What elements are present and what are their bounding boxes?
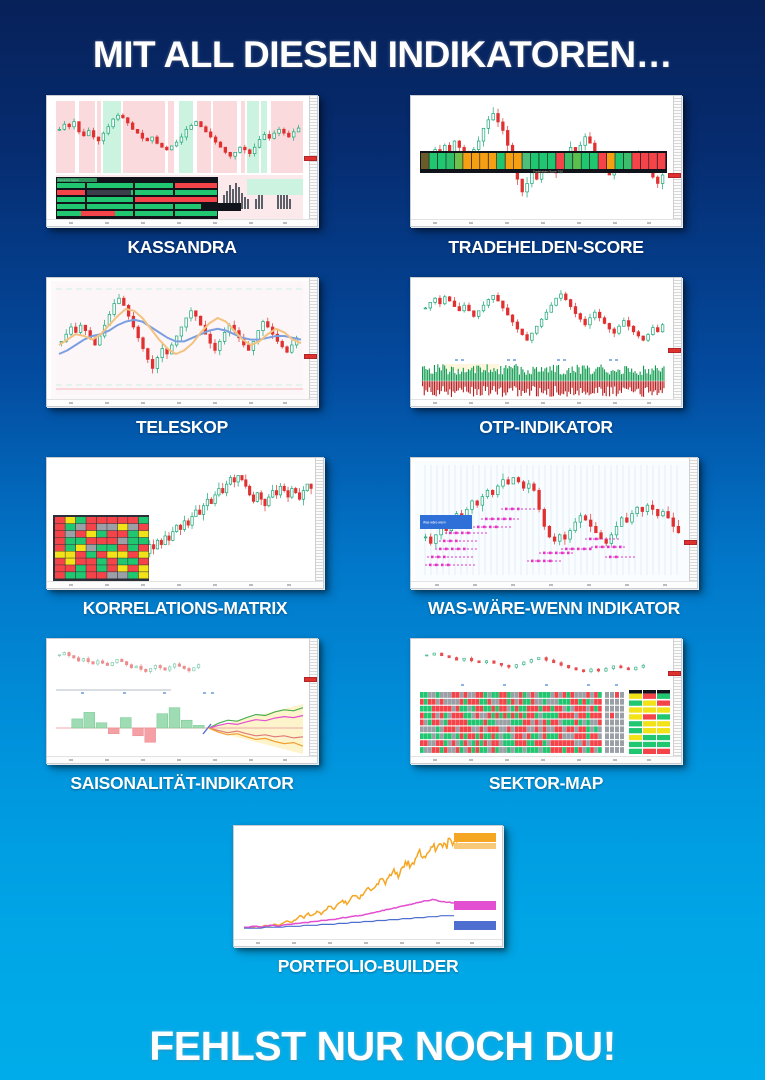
last-price-tag <box>304 677 317 682</box>
price-axis <box>689 458 697 588</box>
price-axis <box>309 96 317 226</box>
sektor-map-thumbnail[interactable] <box>410 638 682 764</box>
was-waere-wenn-chart: Was-wäre-wenn <box>415 461 693 584</box>
last-price-tag <box>668 671 681 676</box>
price-axis <box>673 639 681 763</box>
otp-indikator-thumbnail[interactable] <box>410 277 682 407</box>
price-axis <box>673 278 681 406</box>
indicator-card-was-waere-wenn[interactable]: Was-wäre-wenn WAS-WÄRE-WENN INDIKATOR <box>410 457 698 619</box>
caption-otp-indikator: OTP-INDIKATOR <box>410 417 682 438</box>
indicator-card-otp-indikator[interactable]: OTP-INDIKATOR <box>410 277 682 438</box>
time-axis <box>47 581 323 588</box>
indicator-card-teleskop[interactable]: TELESKOP <box>46 277 318 438</box>
time-axis <box>234 939 502 946</box>
price-axis <box>309 278 317 406</box>
indicator-card-korrelations-matrix[interactable]: KORRELATIONS-MATRIX <box>46 457 324 619</box>
sektor-map-chart <box>415 642 677 759</box>
time-axis <box>411 581 697 588</box>
caption-tradehelden-score: TRADEHELDEN-SCORE <box>410 237 682 258</box>
price-axis <box>315 458 323 588</box>
svg-text:Was-wäre-wenn: Was-wäre-wenn <box>423 521 446 525</box>
kassandra-thumbnail[interactable]: Kassandra Signal <box>46 95 318 227</box>
caption-sektor-map: SEKTOR-MAP <box>410 773 682 794</box>
tradehelden-score-thumbnail[interactable]: Tradehelden Score 7/10 <box>410 95 682 227</box>
time-axis <box>47 219 317 226</box>
was-waere-wenn-thumbnail[interactable]: Was-wäre-wenn <box>410 457 698 589</box>
indicator-card-portfolio-builder[interactable]: PORTFOLIO-BUILDER <box>233 825 503 977</box>
time-axis <box>47 399 317 406</box>
page-title-bottom: FEHLST NUR NOCH DU! <box>0 1022 765 1070</box>
korrelations-matrix-chart <box>51 461 319 584</box>
last-price-tag <box>304 156 317 161</box>
last-price-tag <box>668 348 681 353</box>
indicator-panel-grid: Kassandra Signal KASSANDRA Tradehe <box>0 0 765 1080</box>
time-axis <box>411 399 681 406</box>
caption-was-waere-wenn: WAS-WÄRE-WENN INDIKATOR <box>410 598 698 619</box>
price-axis <box>309 639 317 763</box>
teleskop-chart <box>51 281 313 402</box>
indicator-card-kassandra[interactable]: Kassandra Signal KASSANDRA <box>46 95 318 258</box>
last-price-tag <box>304 354 317 359</box>
indicator-card-sektor-map[interactable]: SEKTOR-MAP <box>410 638 682 794</box>
kassandra-chart: Kassandra Signal <box>51 99 313 222</box>
last-price-tag <box>668 173 681 178</box>
portfolio-builder-chart <box>238 829 498 942</box>
svg-text:Tradehelden Score 7/10: Tradehelden Score 7/10 <box>533 169 563 173</box>
caption-saisonalitaet: SAISONALITÄT-INDIKATOR <box>46 773 318 794</box>
price-axis <box>673 96 681 226</box>
time-axis <box>411 756 681 763</box>
caption-kassandra: KASSANDRA <box>46 237 318 258</box>
caption-portfolio-builder: PORTFOLIO-BUILDER <box>233 956 503 977</box>
indicator-card-tradehelden-score[interactable]: Tradehelden Score 7/10 TRADEHELDEN-SCORE <box>410 95 682 258</box>
caption-korrelations-matrix: KORRELATIONS-MATRIX <box>46 598 324 619</box>
last-price-tag <box>684 540 697 545</box>
time-axis <box>47 756 317 763</box>
teleskop-thumbnail[interactable] <box>46 277 318 407</box>
saisonalitaet-thumbnail[interactable] <box>46 638 318 764</box>
caption-teleskop: TELESKOP <box>46 417 318 438</box>
portfolio-builder-thumbnail[interactable] <box>233 825 503 947</box>
tradehelden-score-chart: Tradehelden Score 7/10 <box>415 99 677 222</box>
svg-text:Kassandra Signal: Kassandra Signal <box>58 178 79 182</box>
saisonalitaet-chart <box>51 642 313 759</box>
otp-indikator-chart <box>415 281 677 402</box>
korrelations-matrix-thumbnail[interactable] <box>46 457 324 589</box>
time-axis <box>411 219 681 226</box>
indicator-card-saisonalitaet[interactable]: SAISONALITÄT-INDIKATOR <box>46 638 318 794</box>
